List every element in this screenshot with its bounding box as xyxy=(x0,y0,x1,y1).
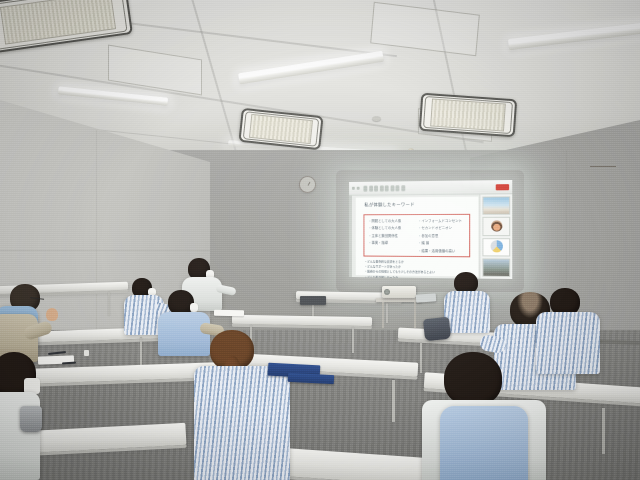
shoulder-bag xyxy=(423,317,451,342)
equipment-case xyxy=(300,296,326,305)
cup xyxy=(84,350,89,356)
slide-thumbnail-panel xyxy=(479,194,512,279)
ribbon-tool-icon xyxy=(401,185,405,191)
outline-rail xyxy=(349,196,352,277)
chair-occupied xyxy=(64,368,116,432)
chair-occupied xyxy=(486,398,546,462)
thumbnail-chart xyxy=(482,238,510,257)
shoulder-bag xyxy=(20,406,42,432)
table-row-mid-center xyxy=(232,315,372,326)
powerpoint-ribbon xyxy=(349,180,512,196)
slide-note-line: 医療からの情報としてもう少しその方法があるとよい xyxy=(364,270,469,275)
handout-papers xyxy=(214,310,244,317)
ribbon-tool-icon xyxy=(363,185,367,191)
ribbon-tool-icon xyxy=(379,185,383,191)
keyword-item: 問題としての大人像 xyxy=(368,218,414,223)
keyword-column-right: インフォームドコンセント セカンドオピニオン 参加の意思 議 論 結果・活用価値… xyxy=(418,218,465,253)
ac-diffuser-right xyxy=(419,93,517,138)
ribbon-tool-icon xyxy=(390,185,394,191)
fluorescent-strip-3 xyxy=(238,51,384,85)
ribbon-tool-icon xyxy=(395,185,399,191)
slide-title: 私が体験したキーワード xyxy=(364,202,478,209)
keyword-box: 問題としての大人像 体験としての大人像 主体と集団関係性 事実・指導 インフォー… xyxy=(363,214,470,257)
window-control-icon xyxy=(357,187,360,190)
presenter-laptop xyxy=(416,293,437,302)
chair-empty xyxy=(300,398,362,472)
window-control-icon xyxy=(352,187,355,190)
smoke-detector-icon xyxy=(372,116,381,121)
seminar-room-photo: 私が体験したキーワード 問題としての大人像 体験としての大人像 主体と集団関係性… xyxy=(0,0,640,480)
ribbon-accent-button xyxy=(496,184,509,190)
keyword-item: インフォームドコンセント xyxy=(418,218,465,223)
slide-stage: 私が体験したキーワード 問題としての大人像 体験としての大人像 主体と集団関係性… xyxy=(356,197,479,277)
keyword-item: 参加の意思 xyxy=(418,233,465,238)
keyword-item: 主体と集団関係性 xyxy=(368,233,414,238)
keyword-item: セカンドオピニオン xyxy=(418,225,465,230)
slide-title-underline xyxy=(363,210,470,211)
ribbon-tool-icon xyxy=(374,185,378,191)
face-mask xyxy=(190,303,198,312)
powerpoint-body: 私が体験したキーワード 問題としての大人像 体験としての大人像 主体と集団関係性… xyxy=(349,194,512,279)
thumbnail-photo-scene xyxy=(482,258,510,277)
slide-notes: どんな事例的な資源をとるか どんなサポートがあったか 医療からの情報としてもう少… xyxy=(364,259,469,279)
chair-occupied xyxy=(408,424,488,480)
keyword-item: 体験としての大人像 xyxy=(368,225,414,230)
fluorescent-strip-4 xyxy=(508,21,640,50)
keyword-item: 結果・活用価値の高い xyxy=(418,248,465,253)
access-panel-2 xyxy=(370,2,480,57)
slide-note-line: どんな事例的な資源をとるか xyxy=(364,259,469,264)
powerpoint-window: 私が体験したキーワード 問題としての大人像 体験としての大人像 主体と集団関係性… xyxy=(349,180,512,279)
thumbnail-portrait xyxy=(482,217,510,236)
projector xyxy=(382,286,416,298)
keyword-column-left: 問題としての大人像 体験としての大人像 主体と集団関係性 事実・指導 xyxy=(368,218,414,252)
hand xyxy=(46,308,58,321)
keyword-item: 議 論 xyxy=(418,240,465,245)
ribbon-tool-icon xyxy=(385,185,389,191)
chair-occupied xyxy=(178,410,242,480)
ribbon-tools-group xyxy=(363,185,404,191)
keyword-item: 事実・指導 xyxy=(368,240,414,245)
access-panel-1 xyxy=(108,45,202,96)
wall-clock xyxy=(299,176,316,193)
projection-screen: 私が体験したキーワード 問題としての大人像 体験としての大人像 主体と集団関係性… xyxy=(349,180,512,279)
ribbon-tool-icon xyxy=(369,185,373,191)
thumbnail-photo-sky xyxy=(482,196,510,215)
